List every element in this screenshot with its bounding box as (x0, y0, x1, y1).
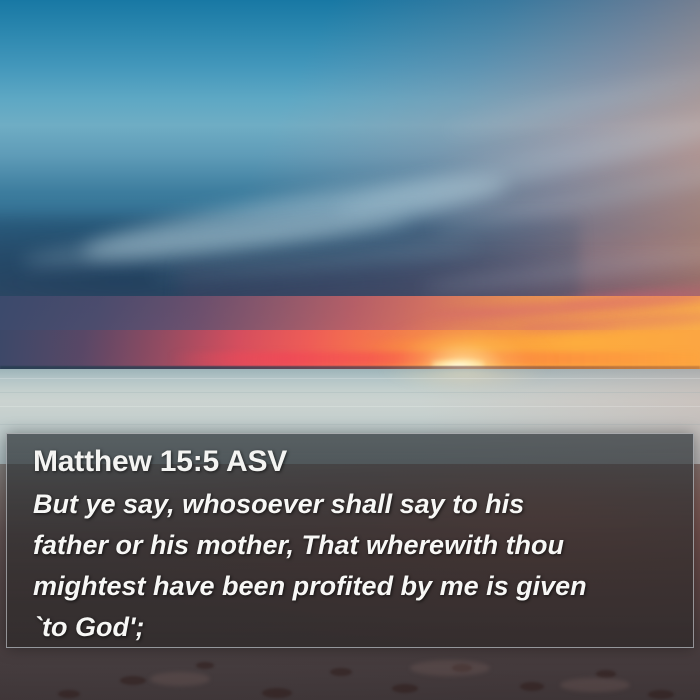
verse-text-line: But ye say, whosoever shall say to his (33, 484, 673, 525)
sand-detail (330, 668, 352, 676)
verse-text-line: `to God'; (33, 607, 673, 648)
water-ripple-line (0, 378, 700, 379)
water-ripple-line (0, 424, 700, 425)
verse-image-scene: Matthew 15:5 ASV But ye say, whosoever s… (0, 0, 700, 700)
verse-overlay-panel: Matthew 15:5 ASV But ye say, whosoever s… (6, 433, 694, 648)
sand-highlight (410, 660, 490, 676)
sand-detail (196, 662, 214, 669)
verse-text-line: father or his mother, That wherewith tho… (33, 525, 673, 566)
water-ripple-line (0, 392, 700, 393)
sand-detail (120, 676, 146, 685)
sand-highlight (560, 678, 630, 692)
verse-text-line: mightest have been profited by me is giv… (33, 566, 673, 607)
sand-detail (392, 684, 418, 693)
sand-detail (596, 670, 616, 678)
verse-reference: Matthew 15:5 ASV (33, 442, 673, 482)
verse-text: But ye say, whosoever shall say to his f… (33, 484, 673, 648)
sand-detail (262, 688, 292, 698)
sand-detail (58, 690, 80, 698)
sand-detail (648, 690, 674, 699)
sand-detail (520, 682, 544, 691)
sand-highlight (150, 672, 210, 686)
water-ripple-line (0, 406, 700, 407)
